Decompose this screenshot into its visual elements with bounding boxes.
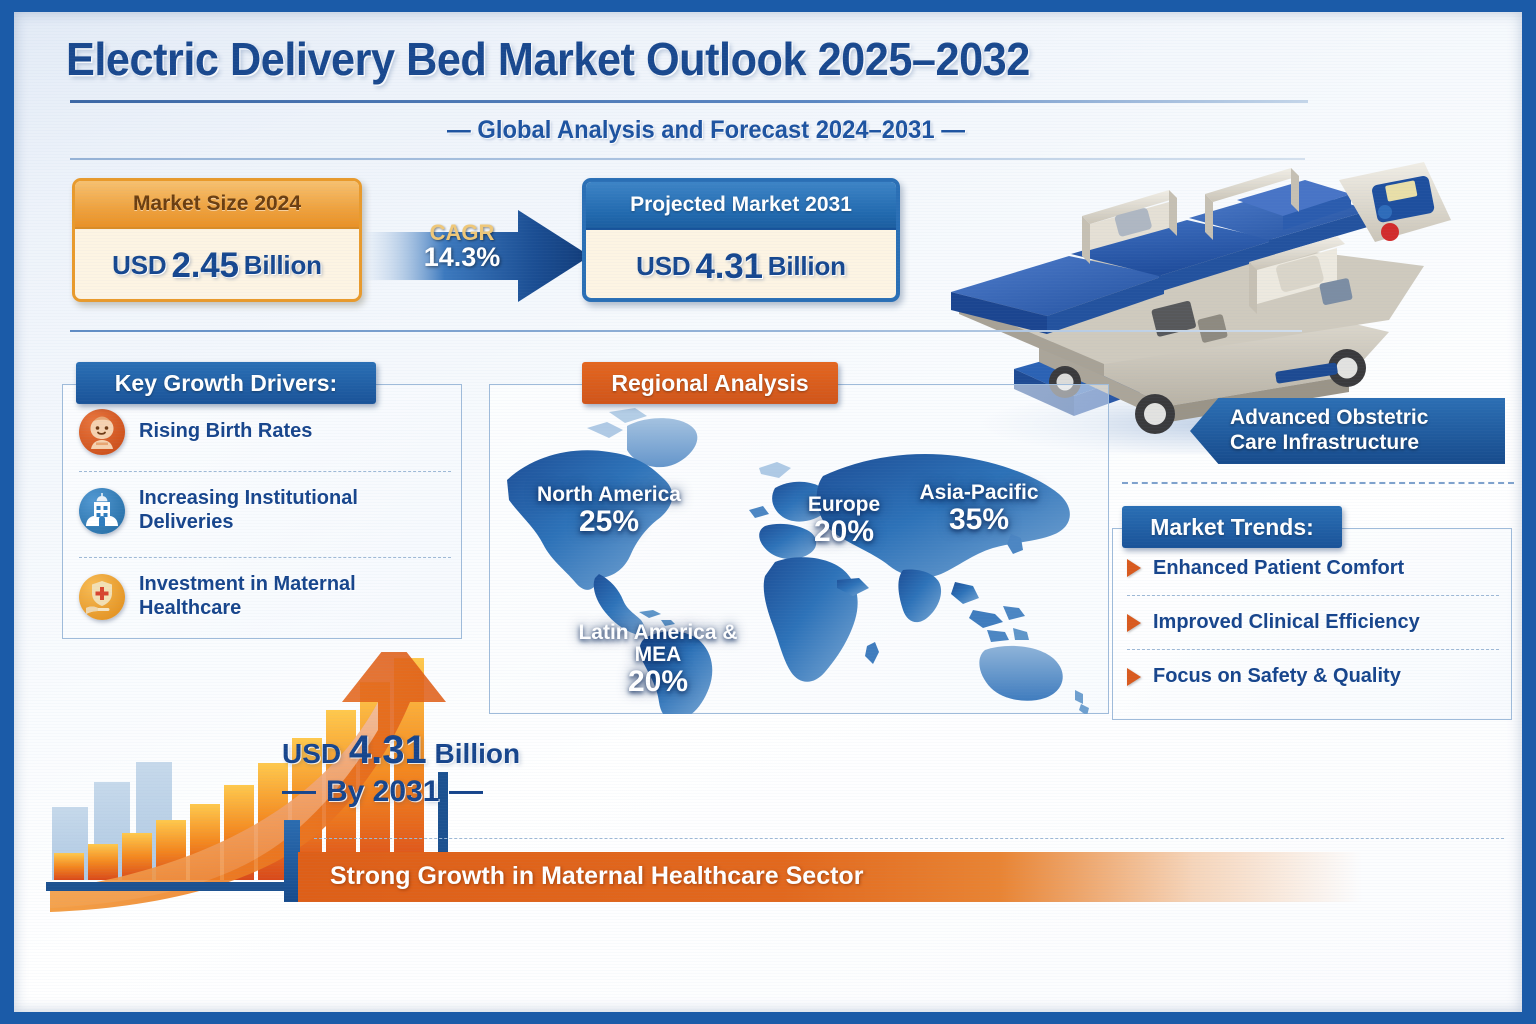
trend-label: Focus on Safety & Quality: [1153, 665, 1401, 688]
triangle-bullet-icon: [1127, 559, 1141, 577]
infographic-page: Electric Delivery Bed Market Outlook 202…: [14, 12, 1522, 1012]
driver-label: Increasing Institutional Deliveries: [139, 487, 451, 534]
market-size-value: USD 2.45 Billion: [75, 229, 359, 302]
projected-unit: Billion: [768, 251, 846, 282]
regional-analysis-title: Regional Analysis: [582, 362, 838, 404]
growth-drivers-panel: Rising Birth Rates I: [62, 384, 462, 639]
growth-year-line: By 2031: [282, 775, 612, 809]
growth-value-callout: USD 4.31 Billion By 2031: [282, 728, 612, 809]
market-size-label: Market Size 2024: [75, 181, 359, 229]
growth-number: 4.31: [349, 728, 427, 772]
growth-currency: USD: [282, 738, 341, 769]
obstetric-callout-text: Advanced Obstetric Care Infrastructure: [1230, 405, 1495, 455]
projected-market-label: Projected Market 2031: [586, 182, 896, 230]
region-name: North America: [537, 483, 681, 506]
growth-drivers-title: Key Growth Drivers:: [76, 362, 376, 404]
bottom-banner: Strong Growth in Maternal Healthcare Sec…: [298, 852, 1508, 902]
cagr-value: 14.3%: [392, 244, 532, 272]
trend-label: Enhanced Patient Comfort: [1153, 557, 1404, 580]
trends-divider: [1122, 482, 1514, 484]
market-size-unit: Billion: [244, 250, 322, 281]
growth-by-year: By 2031: [326, 775, 439, 809]
region-percent: 20%: [789, 516, 899, 548]
trend-label: Improved Clinical Efficiency: [1153, 611, 1420, 634]
hospital-icon: [79, 488, 125, 534]
growth-value-line: USD 4.31 Billion: [282, 728, 612, 773]
region-percent: 35%: [899, 504, 1059, 536]
cagr-arrow: CAGR 14.3%: [366, 208, 590, 304]
title-divider: [70, 100, 1308, 103]
market-size-number: 2.45: [171, 246, 238, 286]
left-dash: [282, 791, 316, 794]
trend-row: Enhanced Patient Comfort: [1127, 541, 1499, 595]
driver-label: Rising Birth Rates: [139, 420, 312, 444]
right-dash: [449, 791, 483, 794]
driver-label: Investment in Maternal Healthcare: [139, 573, 451, 620]
region-label-north-america: North America 25%: [519, 484, 699, 538]
obstetric-line-1: Advanced Obstetric: [1230, 405, 1495, 430]
market-trends-panel: Enhanced Patient Comfort Improved Clinic…: [1112, 528, 1512, 720]
baby-icon: [79, 409, 125, 455]
projected-market-card: Projected Market 2031 USD 4.31 Billion: [582, 178, 900, 302]
triangle-bullet-icon: [1127, 668, 1141, 686]
driver-row: Investment in Maternal Healthcare: [79, 557, 451, 635]
market-size-card: Market Size 2024 USD 2.45 Billion: [72, 178, 362, 302]
projected-market-value: USD 4.31 Billion: [586, 230, 896, 302]
region-label-europe: Europe 20%: [789, 494, 899, 548]
infographic-root: Electric Delivery Bed Market Outlook 202…: [0, 0, 1536, 1024]
hand-care-icon: [79, 574, 125, 620]
market-size-currency: USD: [112, 250, 166, 281]
growth-unit: Billion: [435, 738, 521, 769]
cagr-text: CAGR 14.3%: [392, 222, 532, 272]
region-percent: 25%: [579, 505, 639, 538]
region-name: Europe: [789, 494, 899, 516]
triangle-bullet-icon: [1127, 614, 1141, 632]
projected-currency: USD: [636, 251, 690, 282]
kpi-divider: [70, 330, 1302, 332]
projected-number: 4.31: [695, 247, 762, 287]
obstetric-callout: Advanced Obstetric Care Infrastructure: [1190, 398, 1505, 464]
trend-row: Improved Clinical Efficiency: [1127, 595, 1499, 649]
trend-row: Focus on Safety & Quality: [1127, 649, 1499, 703]
page-title: Electric Delivery Bed Market Outlook 202…: [66, 34, 1260, 85]
cagr-label: CAGR: [392, 222, 532, 244]
banner-divider: [314, 838, 1504, 839]
bottom-banner-text: Strong Growth in Maternal Healthcare Sec…: [330, 862, 863, 891]
market-trends-title: Market Trends:: [1122, 506, 1342, 548]
obstetric-line-2: Care Infrastructure: [1230, 430, 1495, 455]
region-label-asia-pacific: Asia-Pacific 35%: [899, 482, 1059, 536]
driver-row: Rising Birth Rates: [79, 393, 451, 471]
region-name: Asia-Pacific: [899, 482, 1059, 504]
driver-row: Increasing Institutional Deliveries: [79, 471, 451, 549]
